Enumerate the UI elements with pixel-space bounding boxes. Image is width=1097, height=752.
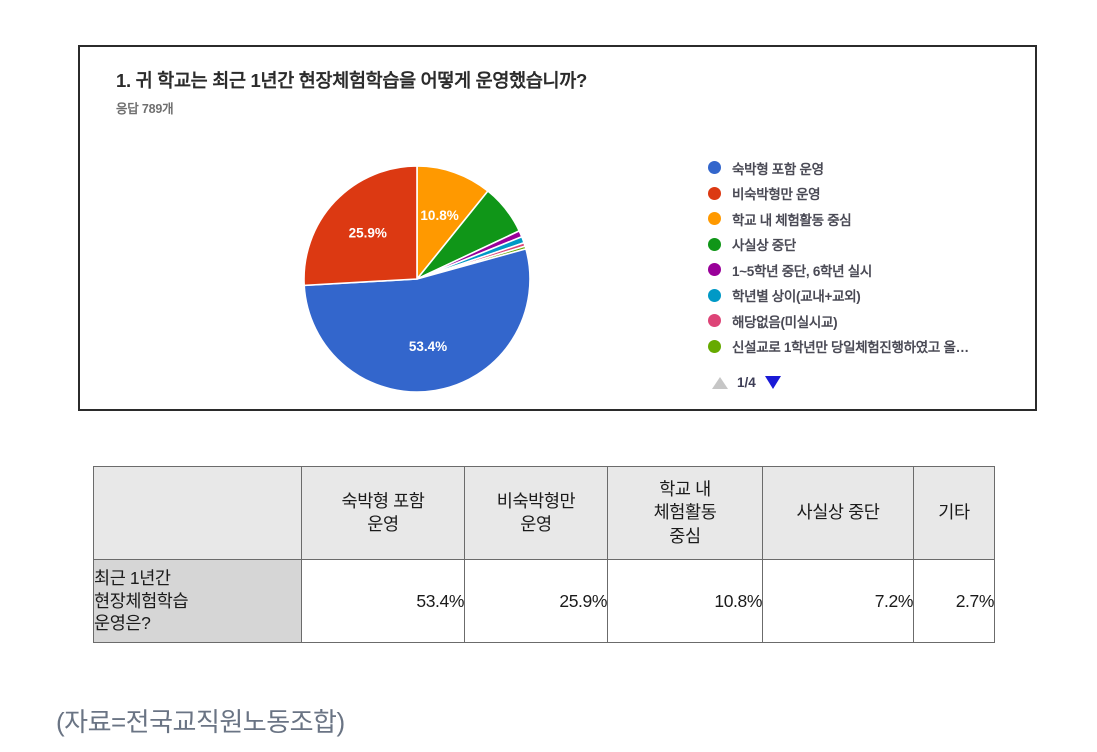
header-line: 숙박형 포함 — [302, 490, 464, 513]
table-cell-value: 25.9% — [465, 560, 608, 643]
pie-chart-svg: 10.8%53.4%25.9% — [302, 164, 532, 394]
legend-color-dot-icon — [708, 187, 721, 200]
legend-item[interactable]: 사실상 중단 — [708, 232, 1038, 258]
table-header-cell: 사실상 중단 — [763, 467, 914, 560]
header-line: 중심 — [608, 525, 762, 548]
pie-slice-group — [304, 166, 530, 392]
header-line: 운영 — [465, 513, 607, 536]
response-count-label: 응답 789개 — [116, 98, 173, 117]
legend-item[interactable]: 학년별 상이(교내+교외) — [708, 283, 1038, 309]
table-header-cell: 학교 내 체험활동 중심 — [608, 467, 763, 560]
header-line: 학교 내 — [608, 478, 762, 501]
legend-color-dot-icon — [708, 340, 721, 353]
legend-item-label: 해당없음(미실시교) — [732, 311, 837, 331]
legend-item-label: 1~5학년 중단, 6학년 실시 — [732, 260, 872, 280]
row-header-line: 현장체험학습 — [94, 590, 301, 613]
page-title: 1. 귀 학교는 최근 1년간 현장체험학습을 어떻게 운영했습니까? — [116, 67, 587, 93]
pager-index-label: 1/4 — [737, 375, 756, 390]
legend-item[interactable]: 숙박형 포함 운영 — [708, 155, 1038, 181]
legend-item[interactable]: 신설교로 1학년만 당일체험진행하였고 올… — [708, 334, 1038, 360]
table-cell-value: 10.8% — [608, 560, 763, 643]
legend-color-dot-icon — [708, 289, 721, 302]
chart-legend: 숙박형 포함 운영비숙박형만 운영학교 내 체험활동 중심사실상 중단1~5학년… — [708, 155, 1038, 359]
triangle-down-icon[interactable] — [765, 376, 781, 389]
table-header-cell: 숙박형 포함 운영 — [302, 467, 465, 560]
pie-slice-label: 10.8% — [420, 208, 458, 223]
table-header-blank — [94, 467, 302, 560]
table-header-cell: 비숙박형만 운영 — [465, 467, 608, 560]
legend-item-label: 학년별 상이(교내+교외) — [732, 285, 861, 305]
legend-color-dot-icon — [708, 314, 721, 327]
table-row-header: 최근 1년간 현장체험학습 운영은? — [94, 560, 302, 643]
legend-color-dot-icon — [708, 161, 721, 174]
table-cell-value: 7.2% — [763, 560, 914, 643]
legend-item-label: 숙박형 포함 운영 — [732, 158, 824, 178]
legend-pager[interactable]: 1/4 — [712, 375, 781, 390]
legend-color-dot-icon — [708, 238, 721, 251]
legend-color-dot-icon — [708, 212, 721, 225]
pie-slice-label: 53.4% — [409, 339, 447, 354]
legend-item-label: 사실상 중단 — [732, 234, 796, 254]
legend-item[interactable]: 학교 내 체험활동 중심 — [708, 206, 1038, 232]
results-table: 숙박형 포함 운영 비숙박형만 운영 학교 내 체험활동 중심 사실상 중단 기… — [93, 466, 995, 643]
header-line: 기타 — [914, 501, 994, 524]
header-line: 체험활동 — [608, 501, 762, 524]
legend-color-dot-icon — [708, 263, 721, 276]
survey-result-card: 1. 귀 학교는 최근 1년간 현장체험학습을 어떻게 운영했습니까? 응답 7… — [78, 45, 1037, 411]
legend-item-label: 신설교로 1학년만 당일체험진행하였고 올… — [732, 336, 969, 356]
legend-item-label: 비숙박형만 운영 — [732, 183, 820, 203]
row-header-line: 최근 1년간 — [94, 567, 301, 590]
legend-item[interactable]: 비숙박형만 운영 — [708, 181, 1038, 207]
triangle-up-icon[interactable] — [712, 377, 728, 389]
table-cell-value: 2.7% — [914, 560, 995, 643]
header-line: 운영 — [302, 513, 464, 536]
table-row: 최근 1년간 현장체험학습 운영은? 53.4% 25.9% 10.8% 7.2… — [94, 560, 995, 643]
pie-chart: 10.8%53.4%25.9% — [302, 164, 532, 394]
legend-item[interactable]: 1~5학년 중단, 6학년 실시 — [708, 257, 1038, 283]
legend-item[interactable]: 해당없음(미실시교) — [708, 308, 1038, 334]
row-header-line: 운영은? — [94, 612, 301, 635]
pie-slice-label: 25.9% — [349, 225, 387, 240]
table-header-cell: 기타 — [914, 467, 995, 560]
header-line: 사실상 중단 — [763, 501, 913, 524]
legend-item-label: 학교 내 체험활동 중심 — [732, 209, 851, 229]
source-caption: (자료=전국교직원노동조합) — [56, 702, 345, 739]
header-line: 비숙박형만 — [465, 490, 607, 513]
table-header-row: 숙박형 포함 운영 비숙박형만 운영 학교 내 체험활동 중심 사실상 중단 기… — [94, 467, 995, 560]
table-cell-value: 53.4% — [302, 560, 465, 643]
